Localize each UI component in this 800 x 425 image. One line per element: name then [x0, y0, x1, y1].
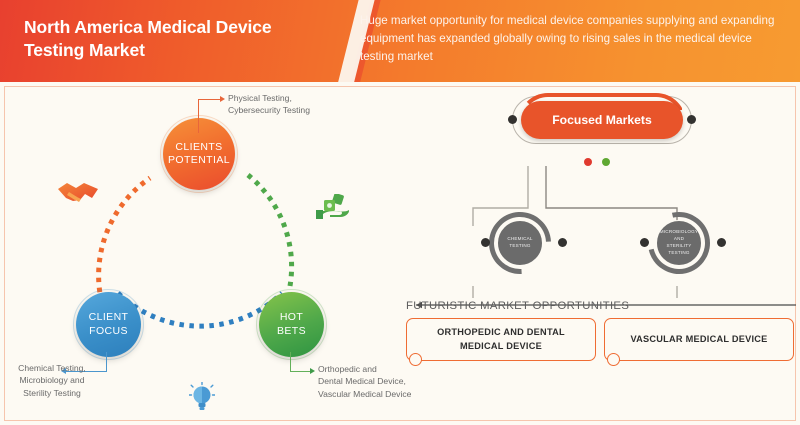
node-client-focus[interactable]: CLIENT FOCUS	[76, 292, 141, 357]
client-focus-label: CLIENT FOCUS	[89, 311, 129, 337]
hot-bets-arrow-icon	[310, 368, 315, 374]
hot-bets-callout: Orthopedic and Dental Medical Device, Va…	[318, 363, 448, 400]
chemical-testing-label: CHEMICAL TESTING	[498, 236, 542, 250]
opportunity-notch-2	[607, 353, 620, 366]
chemical-testing-circle[interactable]: CHEMICAL TESTING	[497, 220, 543, 266]
focused-markets-left-dot-icon	[508, 115, 517, 124]
hot-bets-label: HOT BETS	[277, 311, 306, 337]
clients-potential-label: CLIENTS POTENTIAL	[168, 141, 230, 167]
lightbulb-icon	[189, 382, 215, 414]
header-banner: North America Medical Device Testing Mar…	[0, 0, 800, 82]
opportunity-label-vascular: VASCULAR MEDICAL DEVICE	[630, 333, 767, 346]
hand-holding-money-icon	[316, 194, 350, 222]
opportunity-notch-1	[409, 353, 422, 366]
clients-potential-callout: Physical Testing, Cybersecurity Testing	[228, 92, 378, 117]
clients-potential-connector-vertical	[198, 100, 199, 133]
page-title: North America Medical Device Testing Mar…	[24, 16, 324, 63]
microbiology-testing-label: MICROBIOLOGY AND STERILITY TESTING	[657, 229, 701, 257]
futuristic-opportunities-title: FUTURISTIC MARKET OPPORTUNITIES	[406, 300, 629, 312]
clients-potential-connector-horizontal	[198, 99, 222, 100]
focused-markets-button[interactable]: Focused Markets	[521, 101, 683, 139]
microbiology-testing-left-dot-icon	[640, 238, 649, 247]
opportunity-box-orthopedic-dental[interactable]: ORTHOPEDIC AND DENTAL MEDICAL DEVICE	[406, 318, 596, 361]
node-hot-bets[interactable]: HOT BETS	[259, 292, 324, 357]
chemical-testing-left-dot-icon	[481, 238, 490, 247]
hot-bets-connector-vertical	[290, 352, 291, 372]
chemical-testing-right-dot-icon	[558, 238, 567, 247]
opportunity-box-vascular[interactable]: VASCULAR MEDICAL DEVICE	[604, 318, 794, 361]
focused-markets-group[interactable]: Focused Markets	[512, 96, 692, 144]
client-focus-callout: Chemical Testing, Microbiology and Steri…	[6, 362, 98, 399]
microbiology-testing-circle[interactable]: MICROBIOLOGY AND STERILITY TESTING	[656, 220, 702, 266]
clients-potential-arrow-icon	[220, 96, 225, 102]
red-dot-icon	[584, 158, 592, 166]
header-subtitle: Huge market opportunity for medical devi…	[360, 12, 780, 66]
microbiology-testing-right-dot-icon	[717, 238, 726, 247]
green-dot-icon	[602, 158, 610, 166]
opportunity-label-orthopedic-dental: ORTHOPEDIC AND DENTAL MEDICAL DEVICE	[437, 326, 565, 353]
handshake-icon	[56, 178, 100, 208]
infographic-root: North America Medical Device Testing Mar…	[0, 0, 800, 425]
focused-markets-right-dot-icon	[687, 115, 696, 124]
client-focus-connector-vertical	[106, 352, 107, 372]
hot-bets-connector-horizontal	[290, 371, 311, 372]
